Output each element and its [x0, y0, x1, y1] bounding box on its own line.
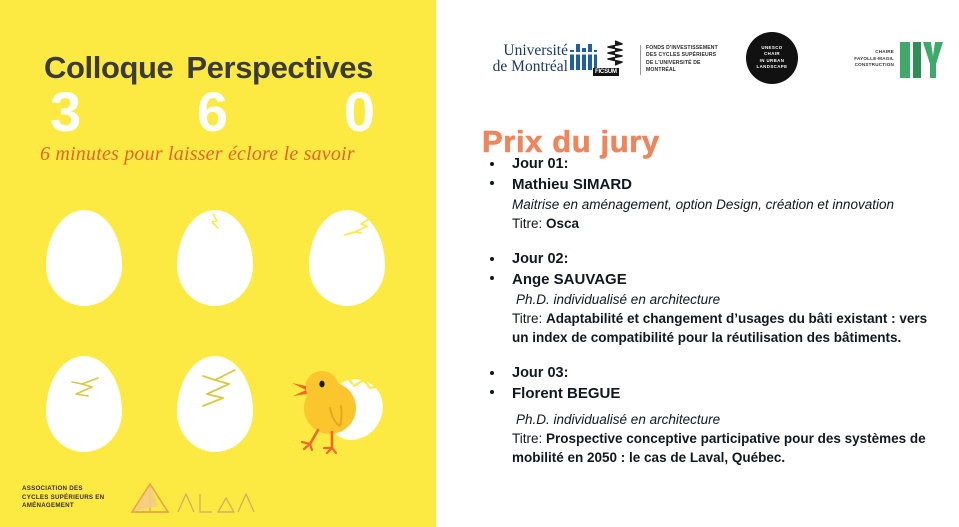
presentation-slide: ColloquePerspectives 3 6 0 6 minutes pou…	[0, 0, 959, 527]
entry-title: Titre: Prospective conceptive participat…	[436, 429, 959, 468]
entry-title-label: Titre:	[512, 431, 546, 446]
numeral-3: 3	[50, 84, 80, 140]
award-entries-list: Jour 01: Mathieu SIMARD Maitrise en amén…	[436, 155, 959, 482]
entry-day-label: Jour 03:	[436, 364, 959, 383]
numeral-6: 6	[197, 84, 227, 140]
universite-de-montreal-logo: Université de Montréal	[478, 36, 596, 82]
right-content-panel: Université de Montréal FICSUM	[436, 0, 959, 527]
acsa-line-3: AMÉNAGEMENT	[22, 502, 120, 511]
award-entry-2: Jour 02: Ange SAUVAGE Ph.D. individualis…	[436, 250, 959, 348]
chick-hatched-icon	[282, 356, 392, 456]
entry-title: Titre: Osca	[436, 214, 959, 234]
entry-day-label: Jour 02:	[436, 250, 959, 269]
chick-illustration	[282, 356, 392, 456]
acsa-logo-text: ASSOCIATION DES CYCLES SUPÉRIEURS EN AMÉ…	[22, 485, 120, 511]
ficsum-wordmark: FICSUM	[593, 68, 619, 76]
egg-icon-3	[309, 210, 389, 310]
unesco-chair-logo: UNESCO CHAIR IN URBAN LANDSCAPE	[746, 32, 802, 88]
udem-line-2: de Montréal	[476, 59, 568, 75]
fayolle-line-2: FAYOLLE-MAGIL	[834, 56, 894, 63]
entry-recipient-name: Ange SAUVAGE	[436, 269, 959, 290]
ficsum-logo-text: FONDS D'INVESTISSEMENT DES CYCLES SUPÉRI…	[640, 45, 732, 75]
three-sixty-numerals: 3 6 0	[46, 84, 398, 140]
entry-title: Titre: Adaptabilité et changement d’usag…	[436, 309, 959, 348]
entry-program: Ph.D. individualisé en architecture	[436, 410, 959, 429]
entry-title-value: Adaptabilité et changement d’usages du b…	[512, 311, 927, 346]
egg-shell-shape	[46, 210, 122, 306]
crack-lines-icon	[309, 210, 385, 306]
egg-icon-5	[177, 356, 257, 456]
crack-lines-icon	[46, 356, 122, 452]
ficsum-logo: FICSUM FONDS D'INVESTISSEMENT DES CYCLES…	[594, 40, 726, 82]
entry-day-label: Jour 01:	[436, 155, 959, 174]
udem-logo-text: Université de Montréal	[476, 43, 568, 75]
unesco-logo-text: UNESCO CHAIR IN URBAN LANDSCAPE	[746, 45, 798, 71]
award-entry-1: Jour 01: Mathieu SIMARD Maitrise en amén…	[436, 155, 959, 234]
egg-icon-1	[46, 210, 126, 310]
unesco-circle-badge: UNESCO CHAIR IN URBAN LANDSCAPE	[746, 32, 798, 84]
udem-line-1: Université	[476, 43, 568, 59]
chaire-fayolle-magil-logo: CHAIRE FAYOLLE-MAGIL CONSTRUCTION	[834, 42, 946, 82]
entry-title-label: Titre:	[512, 216, 546, 231]
tagline: 6 minutes pour laisser éclore le savoir	[40, 143, 420, 166]
entry-recipient-name: Mathieu SIMARD	[436, 174, 959, 195]
entry-title-value: Osca	[546, 216, 579, 231]
ficsum-mark-icon	[602, 40, 628, 70]
numeral-0: 0	[344, 84, 374, 140]
fayolle-line-1: CHAIRE	[834, 49, 894, 56]
egg-icon-2	[177, 210, 257, 310]
acsa-triangle-mark-icon	[128, 480, 258, 516]
entry-recipient-name: Florent BEGUE	[436, 383, 959, 404]
acsa-line-2: CYCLES SUPÉRIEURS EN	[22, 494, 120, 503]
acsa-line-1: ASSOCIATION DES	[22, 485, 120, 494]
crack-lines-icon	[177, 356, 253, 452]
hatching-eggs-illustration	[0, 196, 436, 466]
fayolle-logo-text: CHAIRE FAYOLLE-MAGIL CONSTRUCTION	[834, 49, 894, 69]
partner-logos-bar: Université de Montréal FICSUM	[436, 0, 959, 96]
entry-title-value: Prospective conceptive participative pou…	[512, 431, 926, 466]
fayolle-line-3: CONSTRUCTION	[834, 62, 894, 69]
ficsum-line-3: DE L'UNIVERSITÉ DE MONTRÉAL	[646, 60, 732, 75]
entry-title-label: Titre:	[512, 311, 546, 326]
unesco-line-4: LANDSCAPE	[746, 64, 798, 70]
ficsum-line-2: DES CYCLES SUPÉRIEURS	[646, 52, 732, 59]
fayolle-magil-mark-icon	[900, 42, 944, 78]
left-branding-panel: ColloquePerspectives 3 6 0 6 minutes pou…	[0, 0, 436, 527]
egg-icon-4	[46, 356, 126, 456]
award-entry-3: Jour 03: Florent BEGUE Ph.D. individuali…	[436, 364, 959, 468]
crack-lines-icon	[177, 210, 253, 306]
entry-program: Ph.D. individualisé en architecture	[436, 290, 959, 309]
acsa-logo: ASSOCIATION DES CYCLES SUPÉRIEURS EN AMÉ…	[22, 478, 272, 518]
entry-program: Maitrise en aménagement, option Design, …	[436, 195, 959, 214]
